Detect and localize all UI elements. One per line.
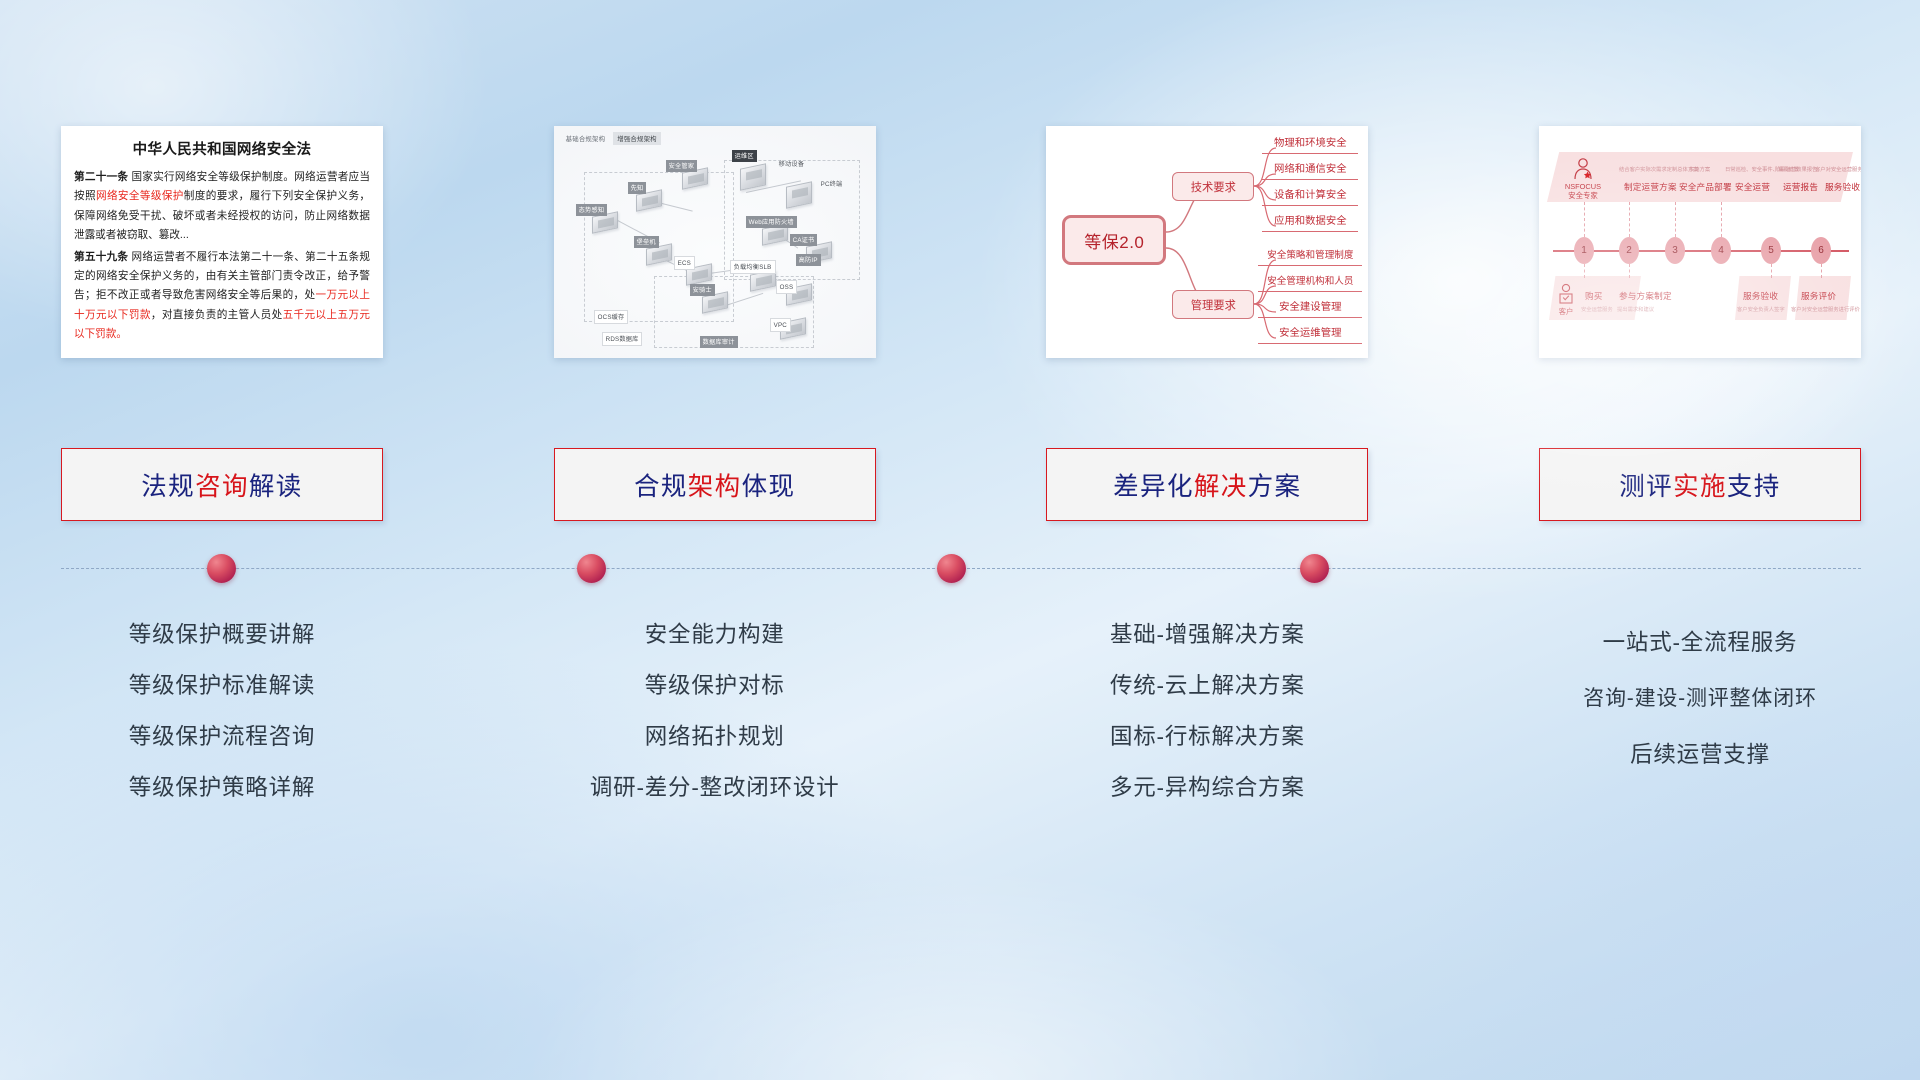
timeline-step-sub: 阶段运营效果报告 [1775,165,1817,173]
architecture-tabs: 基础合规架构 增强合规架构 [562,132,661,145]
customer-step-caption: 购买 [1585,290,1603,302]
architecture-node-label: 安全管家 [666,160,698,172]
architecture-node-label: 数据库审计 [700,336,738,348]
timeline-step-sub: 结合客户实际次需求定制总体方案 [1619,165,1698,173]
timeline-connector [1721,202,1722,237]
mind-map-root-node: 等保2.0 [1062,215,1166,265]
architecture-node-label: 负载均衡SLB [730,260,776,274]
timeline-node-2[interactable] [577,554,606,583]
timeline-step-sub: 实施方案 [1689,165,1710,173]
timeline-connector [1629,264,1630,278]
section-title-differentiated-solution[interactable]: 差异化解决方案 [1046,448,1368,521]
timeline-step-marker: 2 [1619,237,1639,264]
list-item: 传统-云上解决方案 [1046,660,1368,711]
mind-map-leaf: 安全运维管理 [1258,327,1362,344]
timeline-connector [1675,202,1676,237]
architecture-tab-basic[interactable]: 基础合规架构 [562,132,610,145]
mind-map: 等保2.0 技术要求 管理要求 物理和环境安全 网络和通信安全 设备和计算安全 … [1046,126,1368,358]
list-item: 咨询-建设-测评整体闭环 [1539,671,1861,727]
timeline-node-4[interactable] [1300,554,1329,583]
law-article: 第五十九条 网络运营者不履行本法第二十一条、第二十五条规定的网络安全保护义务的，… [74,248,370,345]
timeline-connector [1771,264,1772,278]
customer-step-caption: 参与方案制定 [1619,290,1672,302]
timeline-step-sub: 客户对安全运营服务进行评价 [1815,165,1861,173]
timeline-connector [1629,202,1630,237]
service-list-compliance-architecture: 安全能力构建 等级保护对标 网络拓扑规划 调研-差分-整改闭环设计 [554,605,876,813]
architecture-node-label: RDS数据库 [602,332,643,346]
list-item: 等级保护概要讲解 [61,609,383,660]
mind-map-leaf: 安全管理机构和人员 [1258,275,1362,292]
list-item: 等级保护策略详解 [61,762,383,813]
timeline-step-sub: 客户安全负责人签字 [1737,305,1785,313]
law-article-number: 第二十一条 [74,171,128,183]
section-title-text: 合规架构体现 [634,466,795,503]
mind-map-leaf: 安全策略和管理制度 [1258,249,1362,266]
preview-card-row: 中华人民共和国网络安全法 第二十一条 国家实行网络安全等级保护制度。网络运营者应… [61,126,1861,358]
architecture-node-label: 移动设备 [776,158,808,170]
law-article-number: 第五十九条 [74,251,128,263]
brand-name: NSFOCUS [1559,182,1607,191]
architecture-node-label: 态势感知 [576,204,608,216]
timeline-step-marker: 5 [1761,237,1781,264]
law-article-text: ，对直接负责的主管人员处 [151,309,283,321]
timeline-step-sub: 客户对安全运营服务进行评价 [1791,305,1860,313]
architecture-tab-enhanced[interactable]: 增强合规架构 [613,132,661,145]
law-article: 第二十一条 国家实行网络安全等级保护制度。网络运营者应当按照网络安全等级保护制度… [74,168,370,246]
timeline-step-caption: 安全产品部署 [1679,181,1732,193]
section-title-text: 差异化解决方案 [1113,466,1301,503]
architecture-diagram: 基础合规架构 增强合规架构 [554,126,876,358]
mind-map-leaf: 设备和计算安全 [1262,189,1358,206]
architecture-node-label: 先知 [628,182,647,194]
service-list-evaluation-support: 一站式-全流程服务 咨询-建设-测评整体闭环 后续运营支撑 [1539,605,1861,813]
timeline-step-caption: 服务验收 [1825,181,1860,193]
architecture-node-label: OSS [776,280,798,294]
customer-step-sub: 安全运营服务 [1581,305,1613,313]
mind-map-leaf: 物理和环境安全 [1262,137,1358,154]
mind-map-leaf: 网络和通信安全 [1262,163,1358,180]
architecture-node-label: PC终端 [818,178,846,190]
list-item: 调研-差分-整改闭环设计 [554,762,876,813]
timeline-step-caption: 运营报告 [1783,181,1818,193]
list-item: 等级保护对标 [554,660,876,711]
timeline-axis [1553,250,1849,252]
service-list-regulation-consulting: 等级保护概要讲解 等级保护标准解读 等级保护流程咨询 等级保护策略详解 [61,605,383,813]
mind-map-leaf: 应用和数据安全 [1262,215,1358,232]
infographic-page: 中华人民共和国网络安全法 第二十一条 国家实行网络安全等级保护制度。网络运营者应… [0,0,1920,1080]
law-article-highlight: 网络安全等级保护 [96,190,184,202]
section-title-text: 测评实施支持 [1619,466,1780,503]
service-list-row: 等级保护概要讲解 等级保护标准解读 等级保护流程咨询 等级保护策略详解 安全能力… [61,605,1861,813]
list-item: 基础-增强解决方案 [1046,609,1368,660]
timeline-step-caption: 制定运营方案 [1624,181,1677,193]
timeline-step-marker: 3 [1665,237,1685,264]
section-title-row: 法规咨询解读 合规架构体现 差异化解决方案 测评实施支持 [61,448,1861,521]
timeline-step-marker: 6 [1811,237,1831,264]
list-item: 一站式-全流程服务 [1539,615,1861,671]
brand-subtitle: 安全专家 [1559,191,1607,200]
section-title-regulation-consulting[interactable]: 法规咨询解读 [61,448,383,521]
customer-person-icon [1557,283,1575,305]
timeline-step-marker: 4 [1711,237,1731,264]
service-timeline: NSFOCUS 安全专家 结合客户实际次需求定制总体方案 制定运营方案 实施方案… [1539,126,1861,358]
list-item: 国标-行标解决方案 [1046,711,1368,762]
architecture-node-label: 高防IP [796,254,821,266]
timeline-node-3[interactable] [937,554,966,583]
law-document-title: 中华人民共和国网络安全法 [74,138,370,159]
service-list-differentiated-solution: 基础-增强解决方案 传统-云上解决方案 国标-行标解决方案 多元-异构综合方案 [1046,605,1368,813]
architecture-node-label: VPC [770,318,791,332]
timeline-node-1[interactable] [207,554,236,583]
architecture-node-label: ECS [674,256,695,270]
preview-card-service-timeline[interactable]: NSFOCUS 安全专家 结合客户实际次需求定制总体方案 制定运营方案 实施方案… [1539,126,1861,358]
expert-person-icon [1572,157,1594,181]
timeline-step-caption: 服务验收 [1743,290,1778,302]
architecture-node-label: 堡垒机 [634,236,659,248]
mind-map-branch-management: 管理要求 [1172,290,1254,319]
preview-card-law-document[interactable]: 中华人民共和国网络安全法 第二十一条 国家实行网络安全等级保护制度。网络运营者应… [61,126,383,358]
list-item: 网络拓扑规划 [554,711,876,762]
list-item: 后续运营支撑 [1539,727,1861,783]
list-item: 多元-异构综合方案 [1046,762,1368,813]
timeline-connector [1821,264,1822,278]
section-title-compliance-architecture[interactable]: 合规架构体现 [554,448,876,521]
timeline-connector [1584,202,1585,237]
preview-card-architecture-diagram[interactable]: 基础合规架构 增强合规架构 [554,126,876,358]
customer-step-sub: 提出需求和建议 [1617,305,1654,313]
timeline-connector [1584,264,1585,278]
mind-map-leaf: 安全建设管理 [1258,301,1362,318]
timeline-step-caption: 安全运营 [1735,181,1770,193]
timeline-step-caption: 服务评价 [1801,290,1836,302]
preview-card-mind-map[interactable]: 等保2.0 技术要求 管理要求 物理和环境安全 网络和通信安全 设备和计算安全 … [1046,126,1368,358]
architecture-node-label: CA证书 [790,234,818,246]
architecture-node-label: OCS缓存 [594,310,629,324]
section-title-text: 法规咨询解读 [141,466,302,503]
law-document: 中华人民共和国网络安全法 第二十一条 国家实行网络安全等级保护制度。网络运营者应… [61,126,383,355]
timeline-step-marker: 1 [1574,237,1594,264]
architecture-node-label: 运维区 [732,150,757,162]
list-item: 等级保护标准解读 [61,660,383,711]
architecture-node-label: Web应用防火墙 [746,216,797,228]
mind-map-branch-technical: 技术要求 [1172,172,1254,201]
list-item: 等级保护流程咨询 [61,711,383,762]
list-item: 安全能力构建 [554,609,876,660]
architecture-node-label: 安骑士 [690,284,715,296]
customer-label: 客户 [1552,307,1580,316]
section-title-evaluation-support[interactable]: 测评实施支持 [1539,448,1861,521]
